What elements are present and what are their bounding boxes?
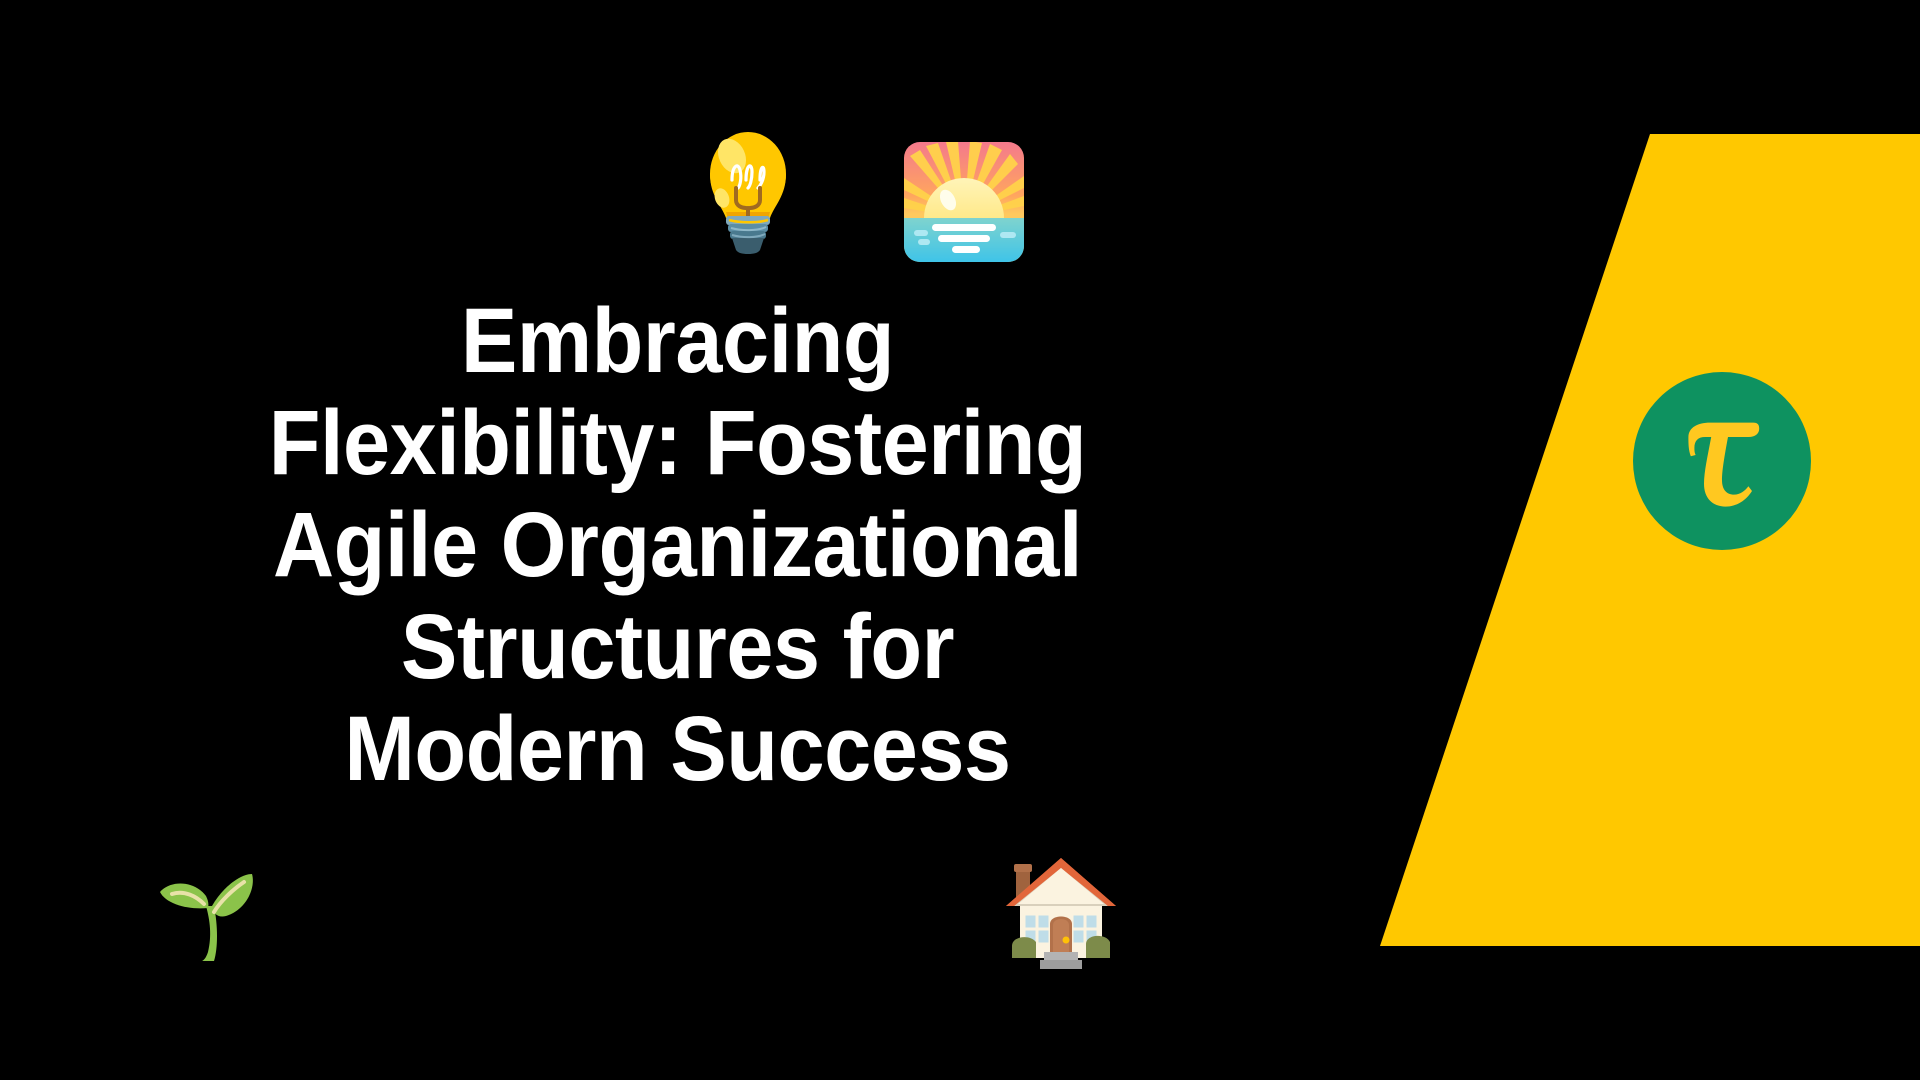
sunrise-icon — [902, 140, 1026, 264]
presentation-slide: Embracing Flexibility: Fostering Agile O… — [0, 0, 1920, 1080]
title-line-4: Structures for — [183, 596, 1172, 698]
brand-accent-panel — [1360, 134, 1920, 946]
house-icon — [996, 848, 1126, 978]
title-line-5: Modern Success — [183, 698, 1172, 800]
tau-logo — [1633, 372, 1811, 550]
seedling-icon — [148, 852, 266, 970]
page-title: Embracing Flexibility: Fostering Agile O… — [140, 290, 1215, 801]
title-line-1: Embracing — [183, 290, 1172, 392]
title-line-3: Agile Organizational — [183, 494, 1172, 596]
title-line-2: Flexibility: Fostering — [183, 392, 1172, 494]
light-bulb-icon — [702, 126, 794, 254]
